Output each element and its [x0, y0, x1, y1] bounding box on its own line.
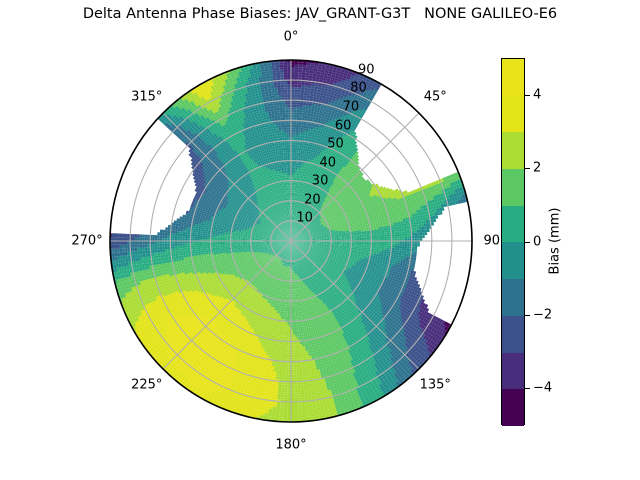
colorbar-band [502, 132, 524, 169]
colorbar-band [502, 169, 524, 206]
azimuth-tick-label: 180° [275, 438, 306, 453]
polar-grid [110, 60, 472, 422]
radial-tick-label: 30 [312, 174, 329, 189]
radial-tick-label: 40 [320, 155, 337, 170]
colorbar-tick-mark [525, 95, 530, 96]
azimuth-tick-label: 315° [131, 89, 162, 104]
colorbar-band [502, 59, 524, 96]
azimuth-tick-label: 225° [131, 378, 162, 393]
colorbar-band [502, 353, 524, 390]
colorbar-label: Bias (mm) [548, 208, 563, 275]
azimuth-tick-label: 270° [71, 234, 102, 249]
colorbar-tick-label: 4 [533, 87, 541, 102]
colorbar [501, 58, 525, 425]
figure-root: Delta Antenna Phase Biases: JAV_GRANT-G3… [0, 0, 640, 480]
colorbar-tick-label: −4 [533, 381, 552, 396]
radial-tick-label: 70 [343, 99, 360, 114]
azimuth-tick-label: 0° [284, 30, 299, 45]
colorbar-gradient [501, 58, 525, 425]
colorbar-band [502, 242, 524, 279]
colorbar-band [502, 279, 524, 316]
azimuth-tick-label: 135° [420, 378, 451, 393]
colorbar-band [502, 389, 524, 426]
radial-tick-label: 60 [335, 118, 352, 133]
colorbar-tick-mark [525, 168, 530, 169]
colorbar-band [502, 96, 524, 133]
colorbar-tick-label: 0 [533, 234, 541, 249]
azimuth-tick-label: 45° [424, 89, 447, 104]
polar-plot-area: 0°45°90°135°180°225°270°315° 10203040506… [0, 0, 500, 480]
colorbar-tick-mark [525, 315, 530, 316]
colorbar-band [502, 316, 524, 353]
colorbar-tick-mark [525, 242, 530, 243]
radial-tick-label: 10 [296, 211, 313, 226]
radial-tick-label: 50 [327, 137, 344, 152]
colorbar-tick-label: 2 [533, 161, 541, 176]
colorbar-tick-label: −2 [533, 307, 552, 322]
colorbar-tick-mark [525, 388, 530, 389]
radial-tick-label: 90 [358, 62, 375, 77]
radial-tick-label: 20 [304, 192, 321, 207]
colorbar-band [502, 206, 524, 243]
radial-tick-label: 80 [350, 81, 367, 96]
